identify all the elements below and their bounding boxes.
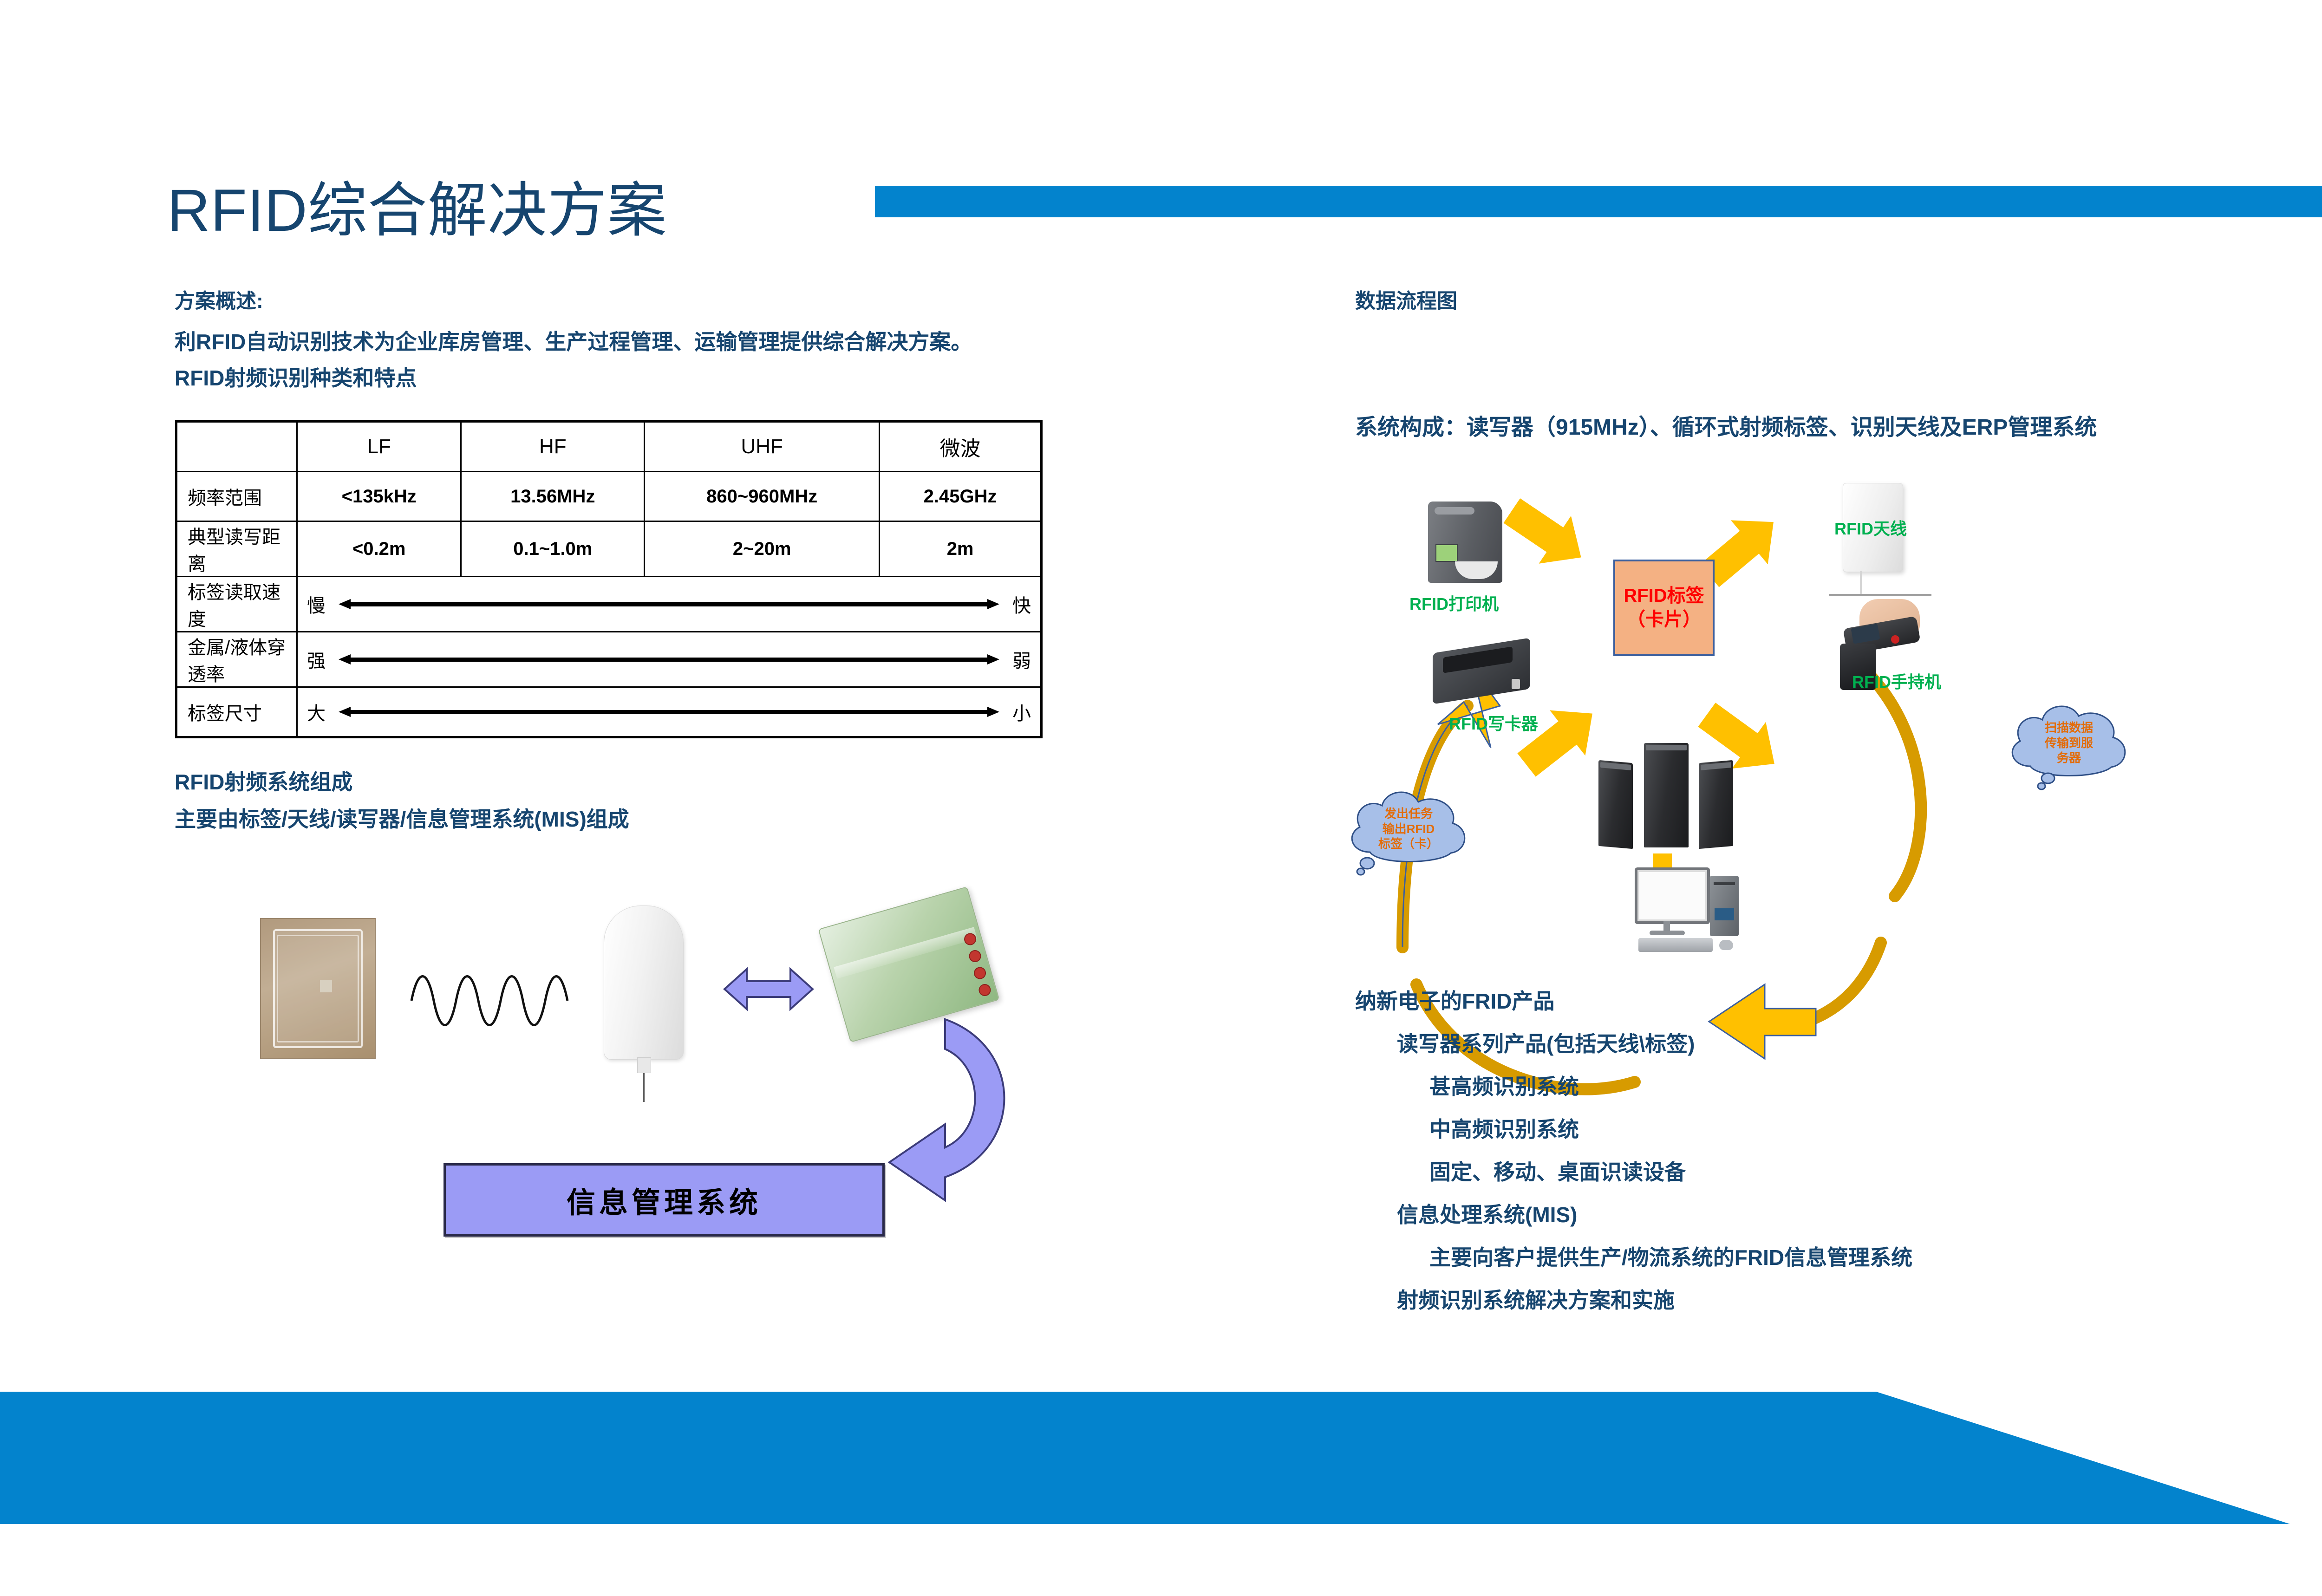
tag-box-line-1: RFID标签 bbox=[1624, 584, 1704, 608]
bidirectional-arrow-icon bbox=[724, 964, 813, 1015]
page-title: RFID综合解决方案 bbox=[167, 181, 667, 241]
table-gradient-arrow-cell: 慢快 bbox=[297, 577, 1042, 632]
arrow-left-label: 大 bbox=[307, 698, 326, 725]
table-cell: <0.2m bbox=[297, 521, 461, 577]
product-list: 纳新电子的FRID产品读写器系列产品(包括天线\标签)甚高频识别系统中高频识别系… bbox=[1355, 984, 1912, 1326]
arrow-left-label: 强 bbox=[307, 646, 326, 673]
table-header-row: LFHFUHF微波 bbox=[176, 422, 1042, 472]
header-accent-band bbox=[875, 186, 2322, 217]
table-row-label: 典型读写距离 bbox=[176, 521, 297, 577]
table-row: 典型读写距离<0.2m0.1~1.0m2~20m2m bbox=[176, 521, 1042, 577]
table-header-cell: HF bbox=[461, 422, 645, 472]
double-arrow-icon bbox=[339, 654, 999, 664]
table-cell: 0.1~1.0m bbox=[461, 521, 645, 577]
dataflow-heading: 数据流程图 bbox=[1355, 284, 1457, 314]
slide-page: RFID综合解决方案 方案概述: 利RFID自动识别技术为企业库房管理、生产过程… bbox=[0, 0, 2322, 1596]
product-list-item: 信息处理系统(MIS) bbox=[1397, 1198, 1912, 1229]
rfid-handheld-label: RFID手持机 bbox=[1852, 669, 1941, 693]
table-corner-cell bbox=[176, 422, 297, 472]
table-row: 标签尺寸大小 bbox=[176, 687, 1042, 737]
rfid-printer-label: RFID打印机 bbox=[1409, 591, 1499, 615]
product-list-item: 甚高频识别系统 bbox=[1429, 1070, 1912, 1101]
overview-label: 方案概述: bbox=[175, 284, 263, 314]
product-list-item: 读写器系列产品(包括天线\标签) bbox=[1397, 1027, 1912, 1058]
cloud-right-text: 扫描数据传输到服务器 bbox=[2040, 720, 2098, 766]
product-list-item: 主要向客户提供生产/物流系统的FRID信息管理系统 bbox=[1429, 1241, 1912, 1271]
compose-heading: RFID射频系统组成 bbox=[175, 765, 352, 796]
product-list-item: 固定、移动、桌面识读设备 bbox=[1429, 1155, 1912, 1186]
system-makeup-line: 系统构成：读写器（915MHz）、循环式射频标签、识别天线及ERP管理系统 bbox=[1355, 409, 2097, 441]
table-cell: 860~960MHz bbox=[645, 472, 880, 521]
compose-body: 主要由标签/天线/读写器/信息管理系统(MIS)组成 bbox=[175, 802, 629, 833]
mis-system-box: 信息管理系统 bbox=[444, 1163, 885, 1237]
table-row: 标签读取速度慢快 bbox=[176, 577, 1042, 632]
table-cell: <135kHz bbox=[297, 472, 461, 521]
table-row-label: 标签尺寸 bbox=[176, 687, 297, 737]
server-rack-photo bbox=[1598, 738, 1733, 847]
double-arrow-icon bbox=[339, 599, 999, 609]
arrow-right-label: 弱 bbox=[1012, 646, 1031, 673]
table-header-cell: LF bbox=[297, 422, 461, 472]
table-gradient-arrow-cell: 强弱 bbox=[297, 632, 1042, 687]
table-header-cell: UHF bbox=[645, 422, 880, 472]
table-row: 频率范围<135kHz13.56MHz860~960MHz2.45GHz bbox=[176, 472, 1042, 521]
table-row-label: 标签读取速度 bbox=[176, 577, 297, 632]
table-header-cell: 微波 bbox=[880, 422, 1042, 472]
cloud-left-text: 发出任务输出RFID标签（卡） bbox=[1374, 806, 1443, 852]
radio-wave-icon bbox=[409, 966, 580, 1036]
table-cell: 2~20m bbox=[645, 521, 880, 577]
table-cell: 2.45GHz bbox=[880, 472, 1042, 521]
rfid-tag-photo bbox=[260, 918, 376, 1059]
rfid-printer-photo bbox=[1428, 502, 1502, 583]
double-arrow-icon bbox=[339, 707, 999, 717]
arrow-right-label: 小 bbox=[1012, 698, 1031, 725]
product-list-item: 射频识别系统解决方案和实施 bbox=[1397, 1283, 1912, 1314]
kinds-heading: RFID射频识别种类和特点 bbox=[175, 361, 417, 392]
table-cell: 13.56MHz bbox=[461, 472, 645, 521]
table-cell: 2m bbox=[880, 521, 1042, 577]
arrow-left-label: 慢 bbox=[307, 591, 326, 618]
table-gradient-arrow-cell: 大小 bbox=[297, 687, 1042, 737]
footer-accent-shape bbox=[0, 1392, 2322, 1524]
rfid-comparison-table: LFHFUHF微波频率范围<135kHz13.56MHz860~960MHz2.… bbox=[175, 420, 1043, 738]
overview-body: 利RFID自动识别技术为企业库房管理、生产过程管理、运输管理提供综合解决方案。 bbox=[175, 325, 972, 356]
tag-box-line-2: （卡片） bbox=[1627, 608, 1701, 632]
table-row-label: 金属/液体穿透率 bbox=[176, 632, 297, 687]
panel-antenna-photo bbox=[604, 905, 684, 1060]
cloud-right-scan: 扫描数据传输到服务器 bbox=[2002, 697, 2136, 789]
rfid-antenna-label: RFID天线 bbox=[1834, 515, 1907, 540]
rfid-card-writer-label: RFID写卡器 bbox=[1449, 710, 1538, 735]
product-list-item: 中高频识别系统 bbox=[1429, 1113, 1912, 1143]
rfid-card-writer-photo bbox=[1433, 645, 1530, 701]
cloud-left-task: 发出任务输出RFID标签（卡） bbox=[1341, 782, 1476, 875]
table-row: 金属/液体穿透率强弱 bbox=[176, 632, 1042, 687]
arrow-right-label: 快 bbox=[1012, 591, 1031, 618]
table-row-label: 频率范围 bbox=[176, 472, 297, 521]
product-list-item: 纳新电子的FRID产品 bbox=[1355, 984, 1912, 1015]
desktop-computer-photo bbox=[1635, 867, 1751, 956]
rfid-tag-center-box: RFID标签 （卡片） bbox=[1613, 560, 1715, 656]
